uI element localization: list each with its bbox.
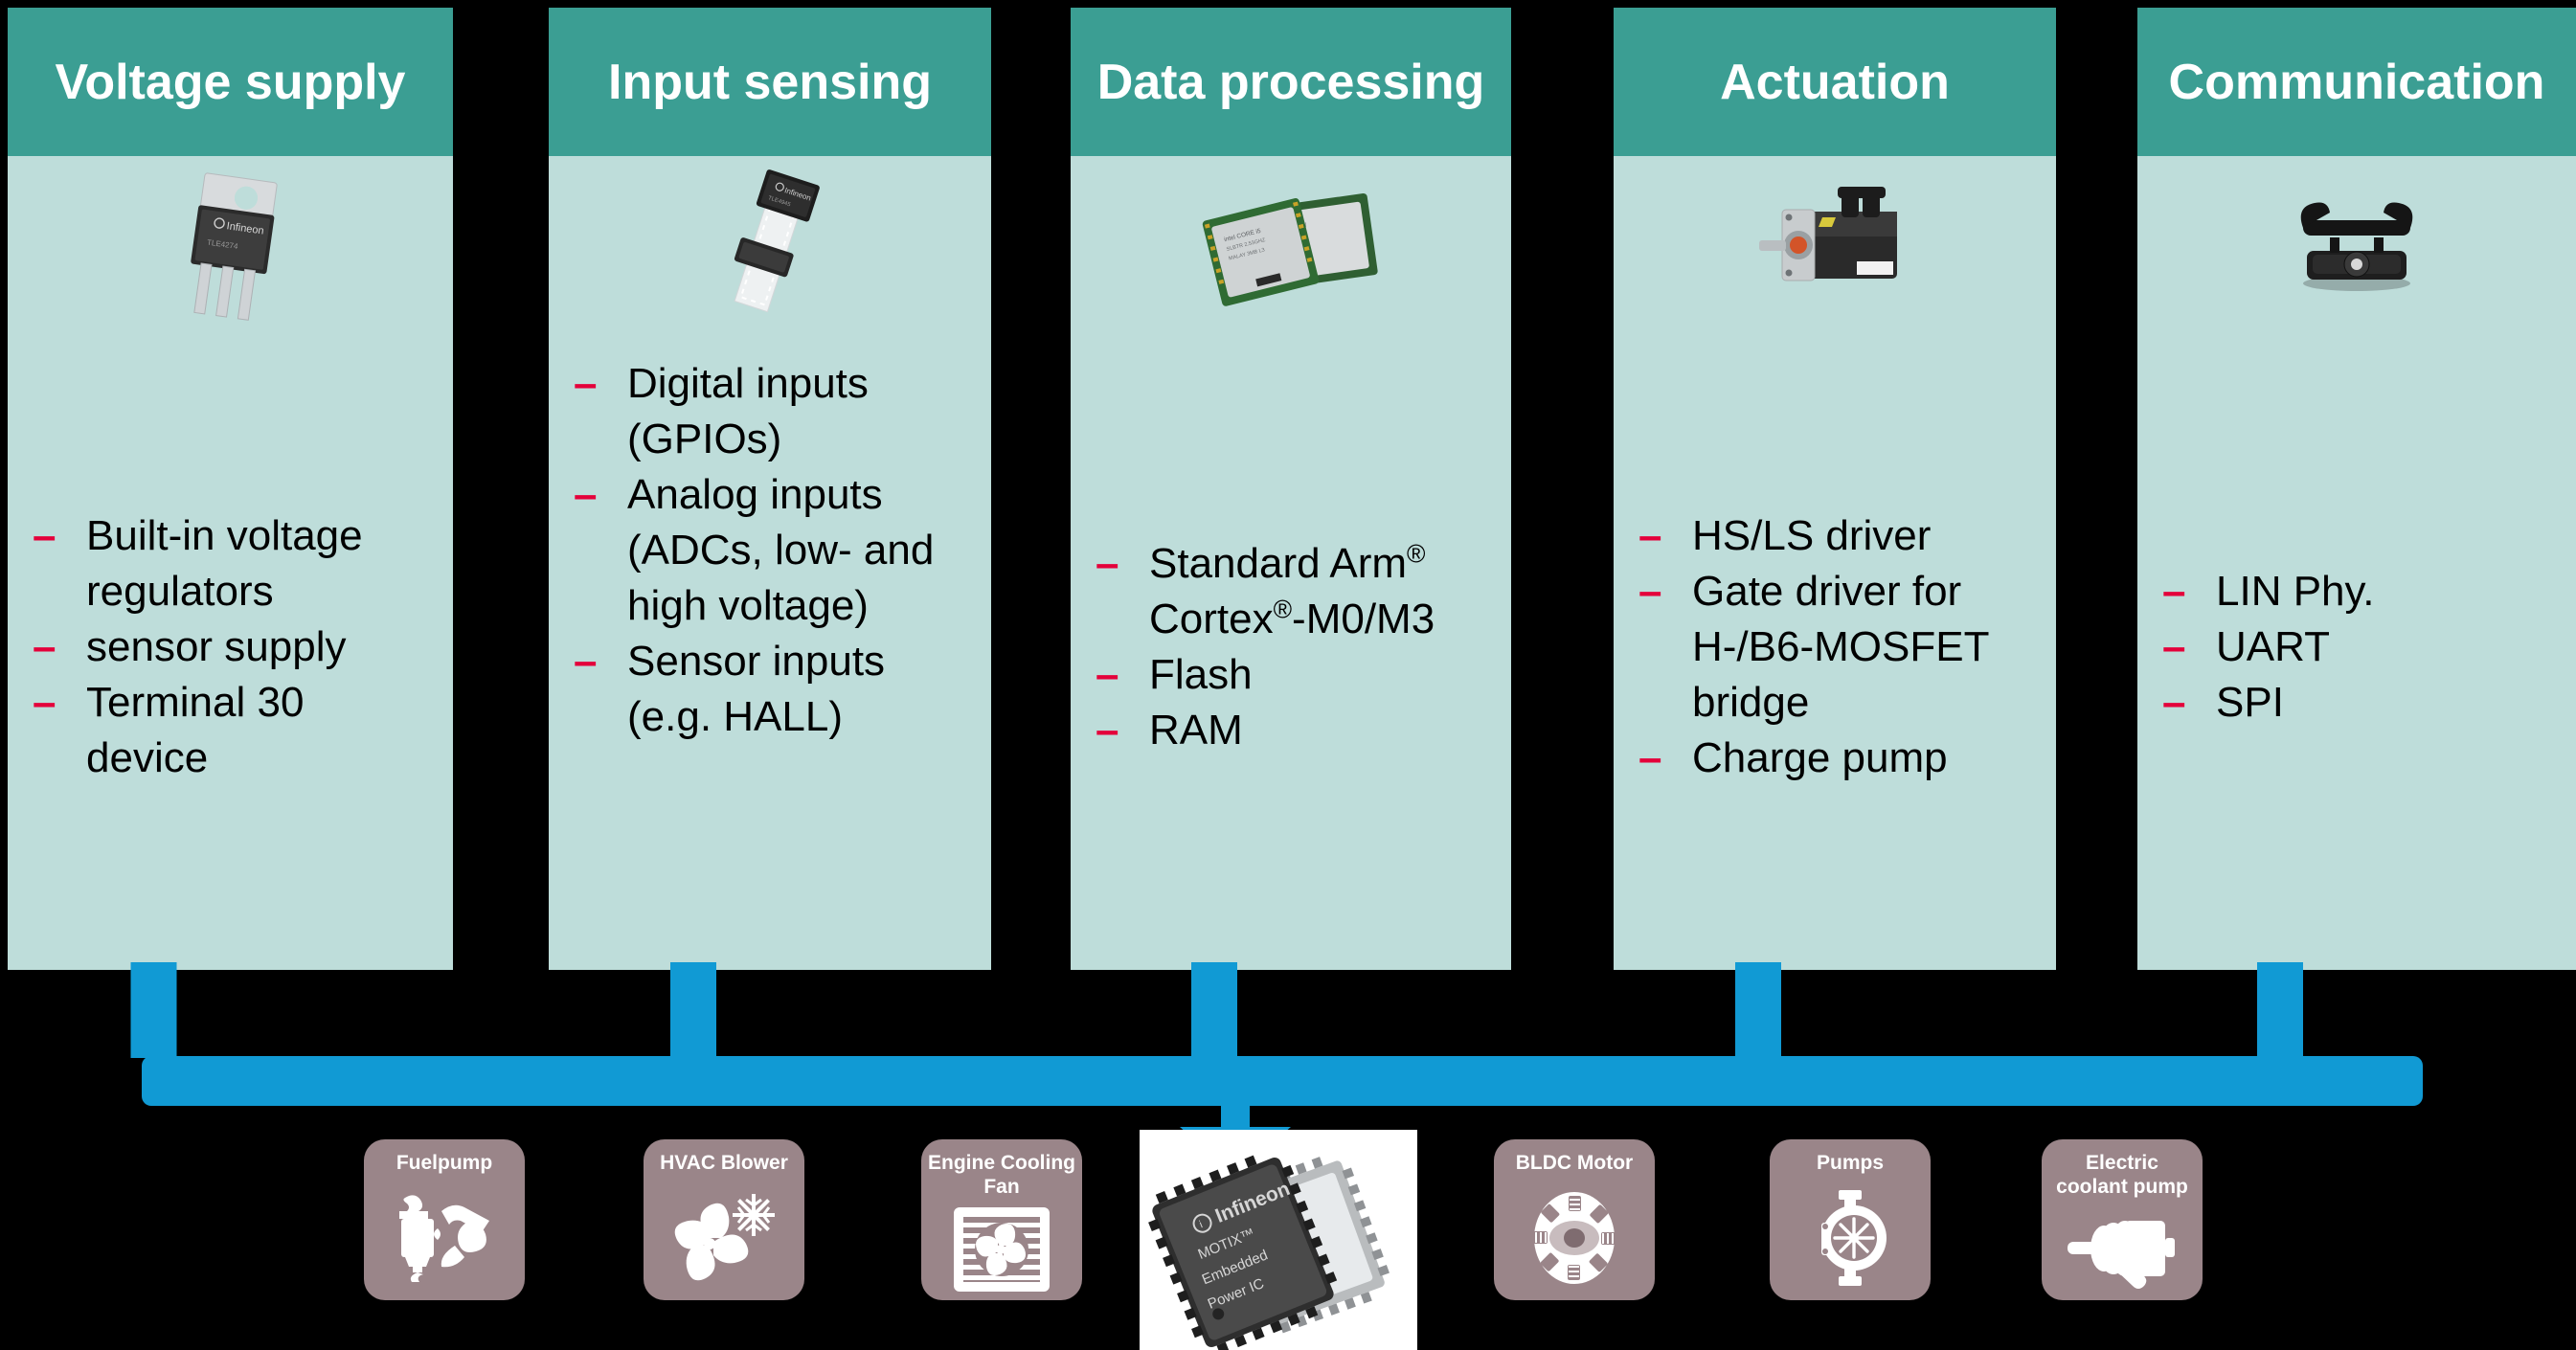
column-photo-input-sensing: Infineon TLE4945 xyxy=(549,156,991,324)
bullet-label: Terminal 30 device xyxy=(86,675,436,786)
bullet-item: –Charge pump xyxy=(1633,731,2039,786)
bullet-label: HS/LS driver xyxy=(1692,508,2039,564)
bullet-label: Standard Arm® Cortex®-M0/M3 xyxy=(1149,536,1494,647)
column-body-input-sensing: Infineon TLE4945 –Digital inputs (GPIOs)… xyxy=(549,156,991,970)
bullet-dash-icon: – xyxy=(1090,703,1149,758)
bullet-dash-icon: – xyxy=(27,619,86,675)
bullet-label: Sensor inputs (e.g. HALL) xyxy=(627,634,974,745)
coolant-pump-icon xyxy=(2042,1199,2203,1300)
bullet-item: –RAM xyxy=(1090,703,1494,758)
bullet-label: RAM xyxy=(1149,703,1494,758)
app-label-bldc-motor: BLDC Motor xyxy=(1510,1151,1638,1175)
bullet-list-communication: –LIN Phy.–UART–SPI xyxy=(2137,324,2576,970)
servo-motor-photo xyxy=(1753,183,1916,307)
app-card-fuelpump[interactable]: Fuelpump xyxy=(364,1139,525,1300)
bullet-list-voltage-supply: –Built-in voltage regulators–sensor supp… xyxy=(8,324,453,970)
tape-reel-sensor-photo: Infineon TLE4945 xyxy=(698,164,842,326)
column-body-communication: –LIN Phy.–UART–SPI xyxy=(2137,156,2576,970)
app-label-pumps: Pumps xyxy=(1811,1151,1889,1175)
cpu-processor-photo: intel intel CORE i5 SLBTR 2.53GHZ MALAY … xyxy=(1195,183,1387,307)
column-data-processing: Data processing intel intel CORE i5 SLBT… xyxy=(1071,8,1511,970)
column-communication: Communication –LIN Phy.–UART–SPI xyxy=(2137,8,2576,970)
bullet-list-actuation: –HS/LS driver–Gate driver for H-/B6-MOSF… xyxy=(1614,324,2056,970)
bullet-item: –LIN Phy. xyxy=(2157,564,2559,619)
column-voltage-supply: Voltage supply Infineon TLE4274 –Built-i… xyxy=(8,8,453,970)
radiator-fan-icon xyxy=(954,1204,1050,1295)
bullet-item: –Sensor inputs (e.g. HALL) xyxy=(568,634,974,745)
column-body-data-processing: intel intel CORE i5 SLBTR 2.53GHZ MALAY … xyxy=(1071,156,1511,970)
rotary-telephone-photo xyxy=(2280,188,2433,303)
bullet-dash-icon: – xyxy=(1633,731,1692,786)
bullet-dash-icon: – xyxy=(2157,564,2216,619)
bullet-label: Charge pump xyxy=(1692,731,2039,786)
bullet-list-input-sensing: –Digital inputs (GPIOs)–Analog inputs (A… xyxy=(549,324,991,970)
qfn-chip-photo: i Infineon MOTIX™ Embedded Power IC xyxy=(1140,1130,1417,1350)
column-title-communication: Communication xyxy=(2137,8,2576,156)
centrifugal-pump-icon xyxy=(1770,1175,1931,1300)
column-title-input-sensing: Input sensing xyxy=(549,8,991,156)
blower-fan-snowflake-icon xyxy=(644,1175,804,1300)
capability-columns: Voltage supply Infineon TLE4274 –Built-i… xyxy=(0,0,2576,971)
bullet-label: LIN Phy. xyxy=(2216,564,2559,619)
bullet-item: –Flash xyxy=(1090,647,1494,703)
column-input-sensing: Input sensing Infineon TLE4945 –Digital … xyxy=(549,8,991,970)
bullet-dash-icon: – xyxy=(2157,675,2216,731)
app-label-fuelpump: Fuelpump xyxy=(391,1151,498,1175)
column-photo-actuation xyxy=(1614,156,2056,324)
bullet-label: Flash xyxy=(1149,647,1494,703)
centrifugal-pump-icon xyxy=(1802,1190,1898,1286)
app-card-pumps[interactable]: Pumps xyxy=(1770,1139,1931,1300)
column-title-data-processing: Data processing xyxy=(1071,8,1511,156)
app-label-engine-cooling-fan: Engine Cooling Fan xyxy=(921,1151,1082,1199)
fuel-pump-icon xyxy=(392,1190,497,1286)
bullet-dash-icon: – xyxy=(1090,536,1149,592)
bullet-list-data-processing: –Standard Arm® Cortex®-M0/M3–Flash–RAM xyxy=(1071,324,1511,970)
convergence-arrow xyxy=(0,962,2576,1154)
bullet-item: –Gate driver for H-/B6-MOSFET bridge xyxy=(1633,564,2039,731)
motix-embedded-power-ic-photo: i Infineon MOTIX™ Embedded Power IC xyxy=(1140,1130,1417,1350)
bullet-label: sensor supply xyxy=(86,619,436,675)
column-photo-data-processing: intel intel CORE i5 SLBTR 2.53GHZ MALAY … xyxy=(1071,156,1511,324)
blower-fan-snowflake-icon xyxy=(667,1190,780,1286)
bullet-dash-icon: – xyxy=(1633,508,1692,564)
bullet-item: –Terminal 30 device xyxy=(27,675,436,786)
bullet-dash-icon: – xyxy=(2157,619,2216,675)
to220-regulator-photo: Infineon TLE4274 xyxy=(159,164,303,326)
bldc-motor-icon xyxy=(1494,1175,1655,1300)
app-card-bldc-motor[interactable]: BLDC Motor xyxy=(1494,1139,1655,1300)
bullet-label: SPI xyxy=(2216,675,2559,731)
bldc-motor-icon xyxy=(1526,1190,1622,1286)
bullet-item: –Analog inputs (ADCs, low- and high volt… xyxy=(568,467,974,634)
bullet-label: Digital inputs (GPIOs) xyxy=(627,356,974,467)
bullet-item: –Built-in voltage regulators xyxy=(27,508,436,619)
column-body-actuation: –HS/LS driver–Gate driver for H-/B6-MOSF… xyxy=(1614,156,2056,970)
app-card-electric-coolant-pump[interactable]: Electric coolant pump xyxy=(2042,1139,2203,1300)
column-photo-communication xyxy=(2137,156,2576,324)
connector-svg xyxy=(0,962,2576,1154)
bullet-item: –UART xyxy=(2157,619,2559,675)
bullet-dash-icon: – xyxy=(568,634,627,689)
bullet-item: –Standard Arm® Cortex®-M0/M3 xyxy=(1090,536,1494,647)
bullet-item: –Digital inputs (GPIOs) xyxy=(568,356,974,467)
column-actuation: Actuation –HS/LS driver–Gate driver for … xyxy=(1614,8,2056,970)
app-card-engine-cooling-fan[interactable]: Engine Cooling Fan xyxy=(921,1139,1082,1300)
bullet-dash-icon: – xyxy=(568,467,627,523)
coolant-pump-icon xyxy=(2066,1205,2179,1294)
bullet-dash-icon: – xyxy=(27,675,86,731)
column-title-actuation: Actuation xyxy=(1614,8,2056,156)
bullet-label: UART xyxy=(2216,619,2559,675)
column-photo-voltage-supply: Infineon TLE4274 xyxy=(8,156,453,324)
bullet-label: Built-in voltage regulators xyxy=(86,508,436,619)
app-label-electric-coolant-pump: Electric coolant pump xyxy=(2042,1151,2203,1199)
app-label-hvac-blower: HVAC Blower xyxy=(654,1151,794,1175)
bullet-item: –sensor supply xyxy=(27,619,436,675)
fuel-pump-icon xyxy=(364,1175,525,1300)
column-body-voltage-supply: Infineon TLE4274 –Built-in voltage regul… xyxy=(8,156,453,970)
bullet-dash-icon: – xyxy=(1633,564,1692,619)
app-card-hvac-blower[interactable]: HVAC Blower xyxy=(644,1139,804,1300)
bullet-label: Gate driver for H-/B6-MOSFET bridge xyxy=(1692,564,2039,731)
bullet-dash-icon: – xyxy=(27,508,86,564)
column-title-voltage-supply: Voltage supply xyxy=(8,8,453,156)
bullet-label: Analog inputs (ADCs, low- and high volta… xyxy=(627,467,974,634)
bullet-item: –SPI xyxy=(2157,675,2559,731)
bullet-dash-icon: – xyxy=(1090,647,1149,703)
radiator-fan-icon xyxy=(921,1199,1082,1300)
bullet-dash-icon: – xyxy=(568,356,627,412)
bullet-item: –HS/LS driver xyxy=(1633,508,2039,564)
